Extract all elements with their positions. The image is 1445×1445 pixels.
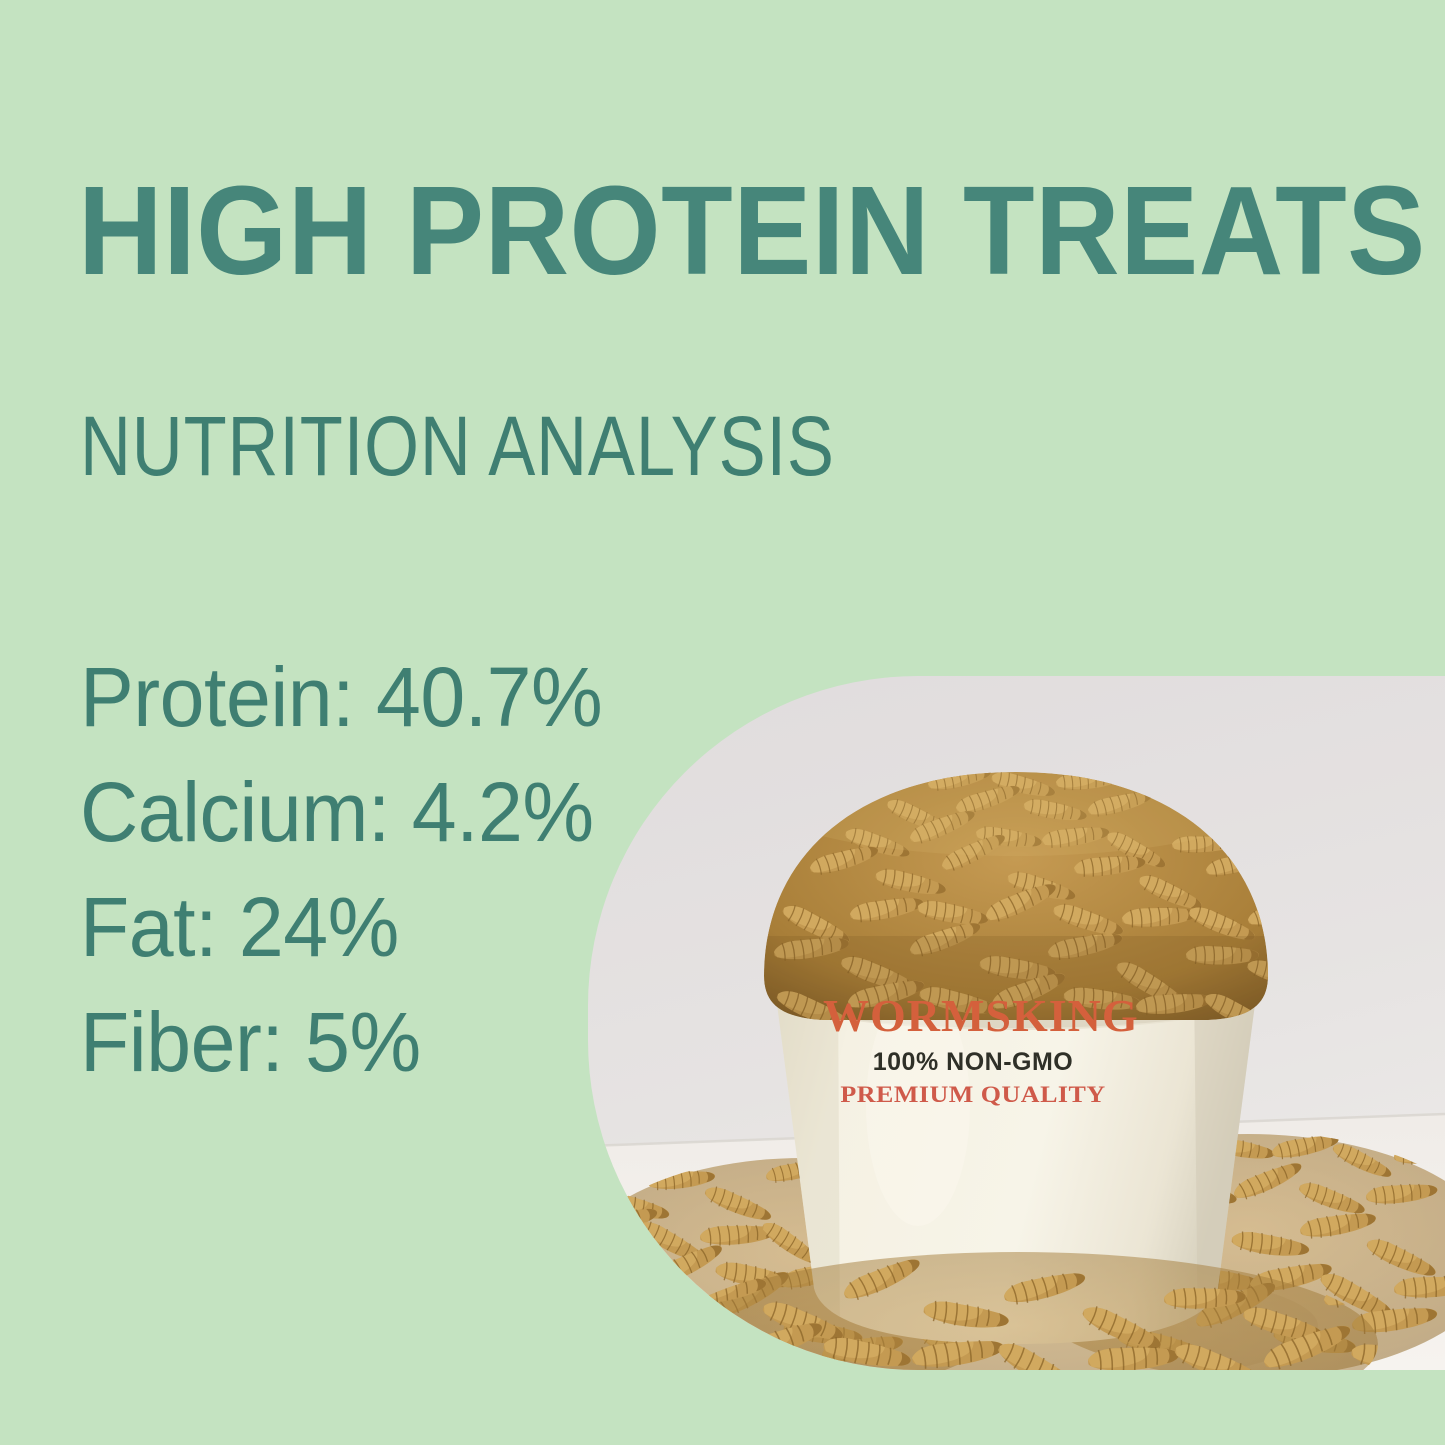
nutrition-row-fat: Fat: 24%: [80, 870, 675, 985]
page-subtitle: NUTRITION ANALYSIS: [80, 404, 835, 488]
nutrition-row-text: Fiber: 5%: [80, 995, 421, 1089]
nutrition-row-text: Calcium: 4.2%: [80, 765, 594, 859]
product-photo: WORMSKING 100% NON-GMO PREMIUM QUALITY: [588, 676, 1445, 1370]
page-title: HIGH PROTEIN TREATS: [78, 168, 1426, 294]
nutrition-row-fiber: Fiber: 5%: [80, 985, 675, 1100]
nutrition-row-text: Fat: 24%: [80, 880, 399, 974]
nutrition-row-protein: Protein: 40.7%: [80, 640, 675, 755]
nutrition-infographic: HIGH PROTEIN TREATS NUTRITION ANALYSIS P…: [0, 0, 1445, 1445]
nutrition-row-text: Protein: 40.7%: [80, 650, 602, 744]
product-photo-illustration: [588, 676, 1445, 1370]
nutrition-row-calcium: Calcium: 4.2%: [80, 755, 675, 870]
